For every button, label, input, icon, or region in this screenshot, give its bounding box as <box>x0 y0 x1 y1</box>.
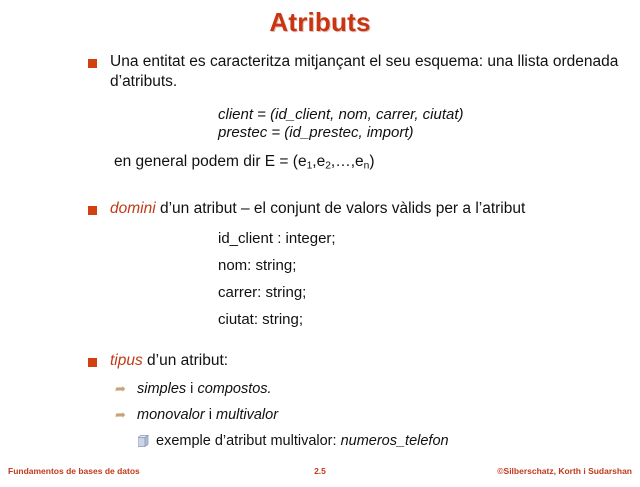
square-bullet-icon <box>88 358 97 367</box>
spacer <box>0 92 640 106</box>
page-title: Atributs <box>0 8 640 37</box>
spacer <box>0 333 640 351</box>
general-formula-mid-2: ,…,e <box>331 153 364 170</box>
sub-bullet-text-monovalor: monovalor i multivalor <box>137 405 278 425</box>
spacer <box>0 142 640 152</box>
sub-item-1-pre: monovalor <box>137 407 205 423</box>
sub-item-0-mid: i <box>186 381 197 397</box>
square-bullet-icon <box>88 206 97 215</box>
spacer <box>0 177 640 199</box>
slide-content: Una entitat es caracteritza mitjançant e… <box>0 52 640 452</box>
spacer <box>0 371 640 379</box>
sub-bullet-text-simples: simples i compostos. <box>137 379 272 399</box>
keyword-tipus: tipus <box>110 352 143 369</box>
schema-line-client: client = (id_client, nom, carrer, ciutat… <box>0 106 640 124</box>
sub-bullet-item-simples: ➦ simples i compostos. <box>0 379 640 399</box>
slide-footer: Fundamentos de bases de datos 2.5 ©Silbe… <box>0 466 640 480</box>
pennant-bullet-icon: ➦ <box>114 380 127 398</box>
general-formula-prefix: en general podem dir E = (e <box>114 153 307 170</box>
bullet-item-domini: domini d’un atribut – el conjunt de valo… <box>0 199 640 219</box>
sub-item-1-mid: i <box>205 407 216 423</box>
exemple-italic-value: numeros_telefon <box>341 433 449 449</box>
domain-line-carrer: carrer: string; <box>0 279 640 306</box>
cube-bullet-icon <box>138 434 149 452</box>
footer-copyright: ©Silberschatz, Korth i Sudarshan <box>497 466 632 476</box>
general-formula-line: en general podem dir E = (e1,e2,…,en) <box>0 152 640 177</box>
domain-line-ciutat: ciutat: string; <box>0 306 640 333</box>
bullet-text-domini-rest: d’un atribut – el conjunt de valors vàli… <box>156 200 526 217</box>
schema-line-prestec: prestec = (id_prestec, import) <box>0 124 640 142</box>
pennant-bullet-icon: ➦ <box>114 406 127 424</box>
domain-line-nom: nom: string; <box>0 252 640 279</box>
sub-sub-bullet-item-exemple: exemple d’atribut multivalor: numeros_te… <box>0 431 640 452</box>
keyword-domini: domini <box>110 200 156 217</box>
sub-bullet-item-monovalor: ➦ monovalor i multivalor <box>0 405 640 425</box>
sub-sub-bullet-text-exemple: exemple d’atribut multivalor: numeros_te… <box>156 431 449 451</box>
bullet-text-domini: domini d’un atribut – el conjunt de valo… <box>110 199 525 219</box>
square-bullet-icon <box>88 59 97 68</box>
sub-item-0-pre: simples <box>137 381 186 397</box>
sub-item-0-post: compostos. <box>197 381 271 397</box>
general-formula-mid-1: ,e <box>312 153 325 170</box>
bullet-item-entitat: Una entitat es caracteritza mitjançant e… <box>0 52 640 92</box>
bullet-item-tipus: tipus d’un atribut: <box>0 351 640 371</box>
bullet-text-tipus-rest: d’un atribut: <box>143 352 228 369</box>
exemple-prefix: exemple d’atribut multivalor: <box>156 433 341 449</box>
general-formula-suffix: ) <box>369 153 374 170</box>
sub-item-1-post: multivalor <box>216 407 278 423</box>
bullet-text-entitat: Una entitat es caracteritza mitjançant e… <box>110 52 622 92</box>
domain-line-id-client: id_client : integer; <box>0 225 640 252</box>
bullet-text-tipus: tipus d’un atribut: <box>110 351 228 371</box>
